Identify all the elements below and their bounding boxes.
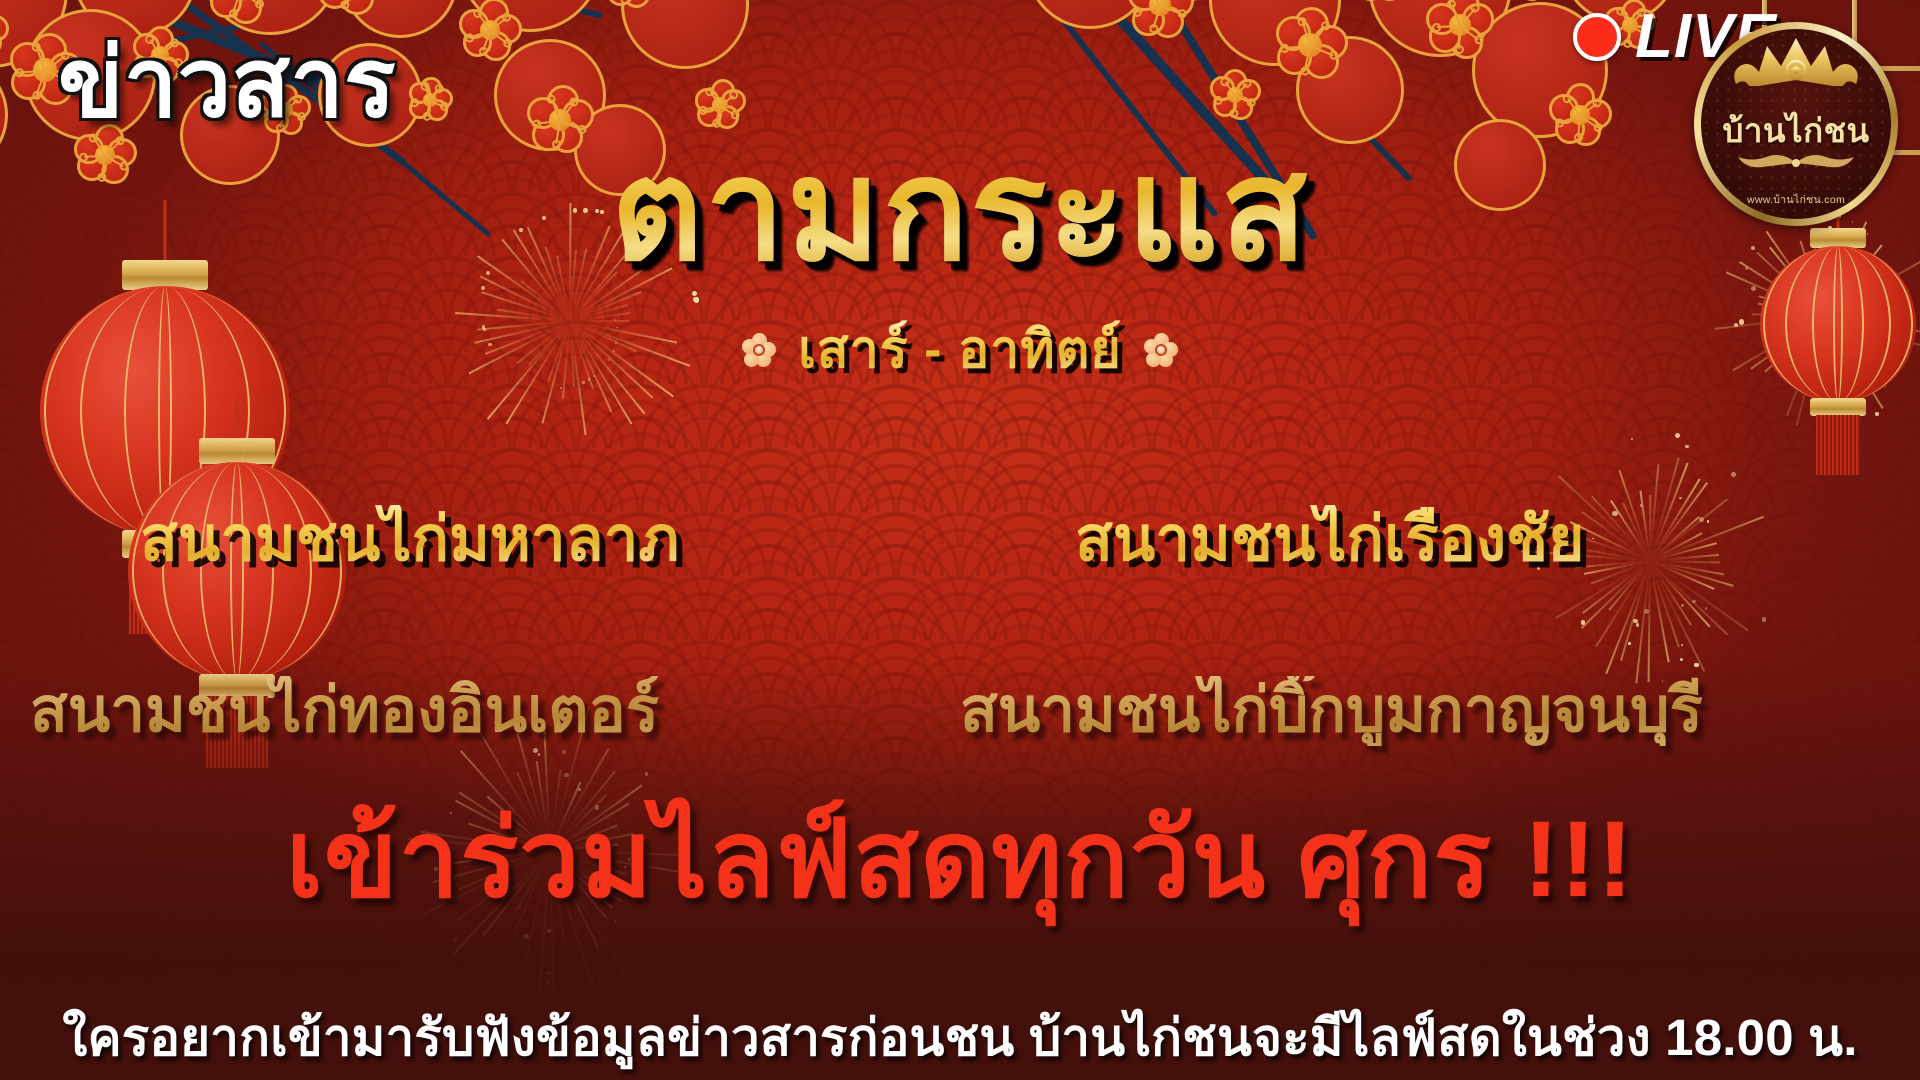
venue-name-0[interactable]: สนามชนไก่มหาลาภ [140,505,679,575]
page-title: ตามกระแส [0,136,1920,286]
plum-blossom-icon-right [1144,333,1178,367]
subtitle: เสาร์ - อาทิตย์ [798,320,1122,380]
thai-crown-icon [1721,36,1871,103]
headline-call-to-action: เข้าร่วมไลฟ์สดทุกวัน ศุกร !!! [0,800,1920,918]
venue-name-2[interactable]: สนามชนไก่ทองอินเตอร์ [30,676,659,746]
footnote-text: ใครอยากเข้ามารับฟังข้อมูลข่าวสารก่อนชน บ… [0,1008,1920,1068]
brand-logo[interactable]: บ้านไก่ชน www.บ้านไก่ชน.com [1694,22,1898,226]
venue-name-3[interactable]: สนามชนไก่บิ๊กบูมกาญจนบุรี [960,676,1703,746]
subtitle-row: เสาร์ - อาทิตย์ [0,320,1920,380]
poster-canvas: LIVE บ้านไก่ชน [0,0,1920,1080]
news-label: ข่าวสาร [58,36,396,132]
live-record-dot-icon [1573,13,1621,61]
logo-url: www.บ้านไก่ชน.com [1694,191,1898,208]
gold-flourish-icon [1730,149,1862,180]
plum-blossom-icon-left [742,333,776,367]
venue-name-1[interactable]: สนามชนไก่เรืองชัย [1075,505,1585,575]
